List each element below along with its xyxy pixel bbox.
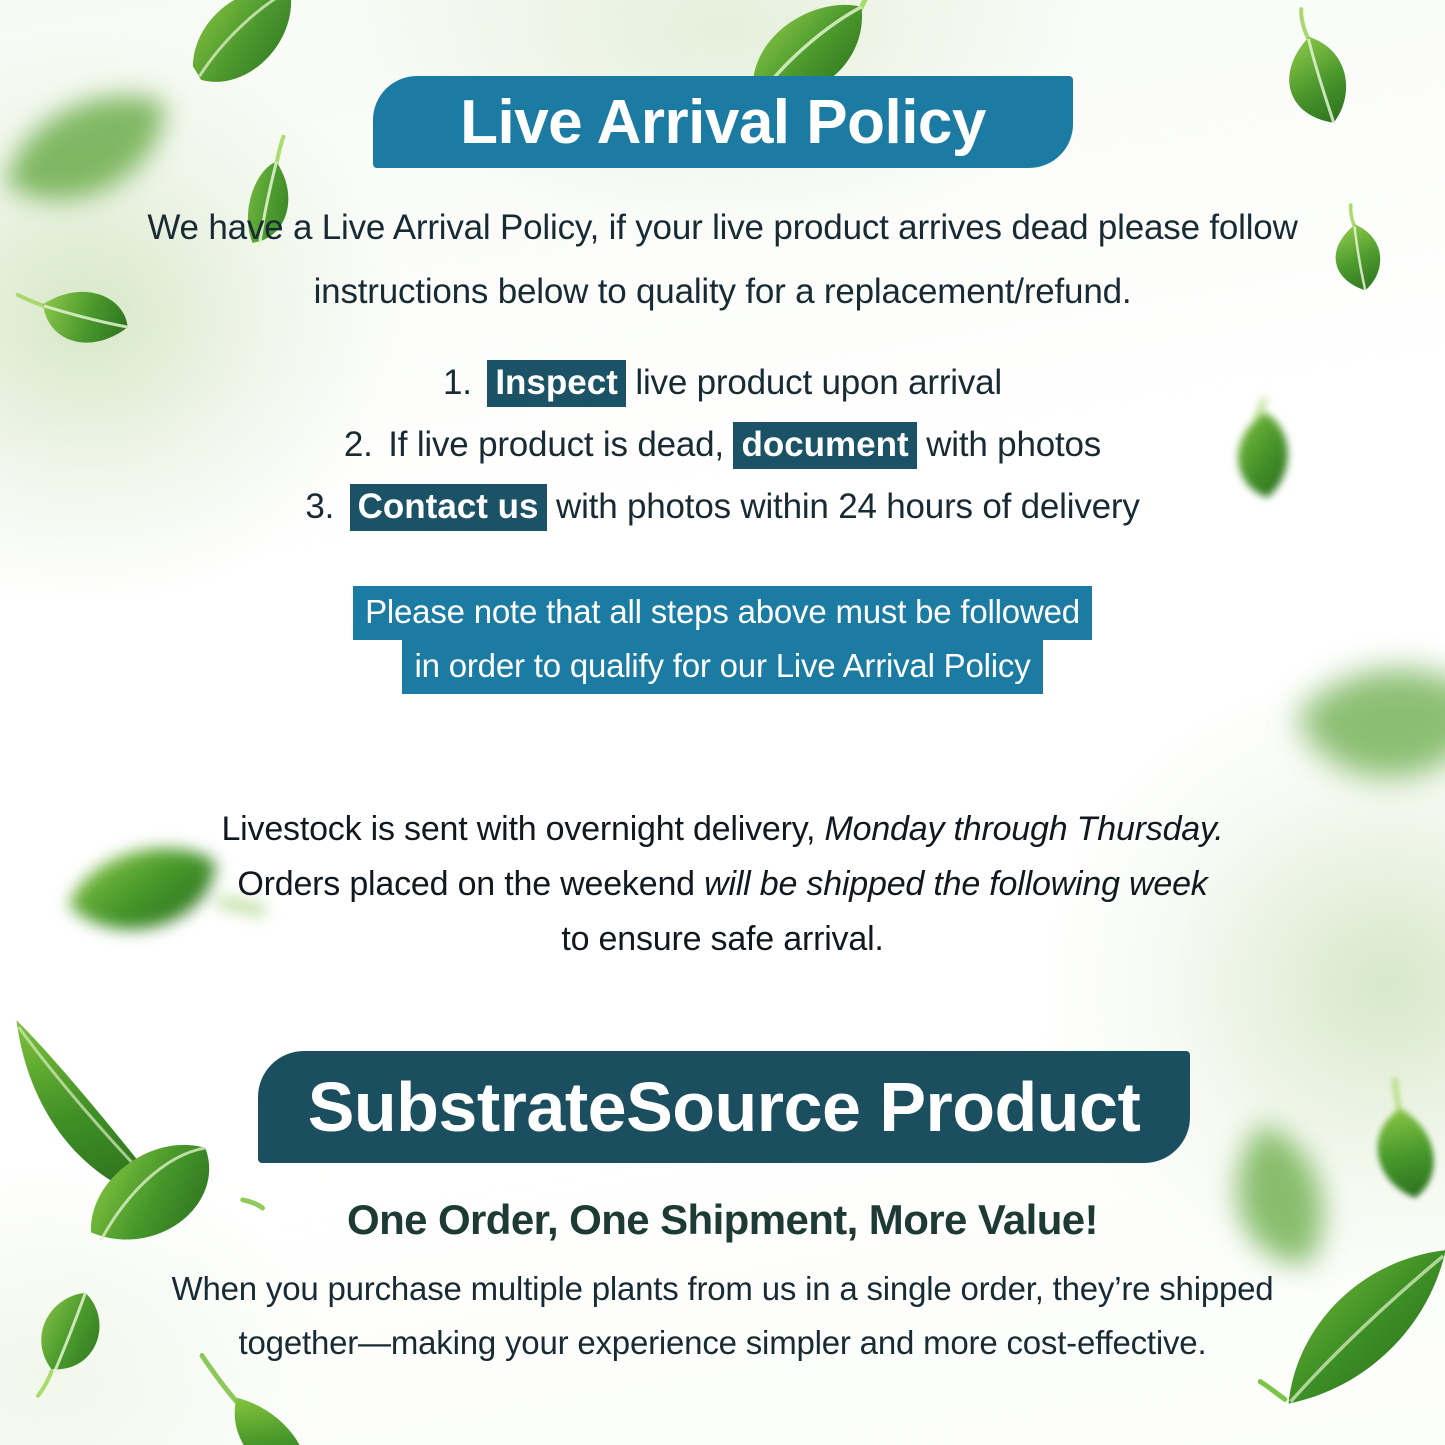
promo-graphic: Live Arrival Policy We have a Live Arriv…	[0, 0, 1445, 1445]
step-item-3: 3. Contact us with photos within 24 hour…	[0, 476, 1445, 538]
content-area: Live Arrival Policy We have a Live Arriv…	[0, 0, 1445, 1445]
step-highlight-contact-us[interactable]: Contact us	[350, 484, 547, 531]
step-number: 2.	[344, 425, 373, 464]
substratesource-product-banner: SubstrateSource Product	[258, 1051, 1190, 1163]
outro-paragraph: When you purchase multiple plants from u…	[0, 1262, 1445, 1370]
shipping-line-1-italic: Monday through Thursday.	[825, 810, 1224, 848]
step-text: with photos within 24 hours of delivery	[556, 487, 1140, 526]
shipping-schedule-paragraph: Livestock is sent with overnight deliver…	[0, 802, 1445, 967]
step-item-2: 2. If live product is dead, document wit…	[0, 414, 1445, 476]
steps-list: 1. Inspect live product upon arrival 2. …	[0, 352, 1445, 538]
step-text-pre: If live product is dead,	[388, 425, 724, 464]
policy-note-block: Please note that all steps above must be…	[0, 586, 1445, 694]
intro-line-1: We have a Live Arrival Policy, if your l…	[0, 196, 1445, 260]
shipping-line-1-normal: Livestock is sent with overnight deliver…	[221, 810, 824, 848]
shipping-line-2: Orders placed on the weekend will be shi…	[0, 857, 1445, 912]
shipping-line-1: Livestock is sent with overnight deliver…	[0, 802, 1445, 857]
step-item-1: 1. Inspect live product upon arrival	[0, 352, 1445, 414]
intro-line-2: instructions below to quality for a repl…	[0, 260, 1445, 324]
intro-paragraph: We have a Live Arrival Policy, if your l…	[0, 196, 1445, 324]
step-number: 1.	[443, 363, 472, 402]
step-highlight-inspect: Inspect	[487, 360, 626, 407]
value-proposition-subheading: One Order, One Shipment, More Value!	[0, 1196, 1445, 1244]
step-text: with photos	[926, 425, 1101, 464]
outro-line-2: together—making your experience simpler …	[0, 1316, 1445, 1370]
policy-note-line-1: Please note that all steps above must be…	[353, 586, 1092, 640]
shipping-line-2-normal: Orders placed on the weekend	[237, 865, 704, 903]
step-highlight-document: document	[733, 422, 916, 469]
outro-line-1: When you purchase multiple plants from u…	[0, 1262, 1445, 1316]
step-text: live product upon arrival	[635, 363, 1002, 402]
substratesource-product-title: SubstrateSource Product	[308, 1067, 1141, 1147]
live-arrival-policy-title: Live Arrival Policy	[460, 87, 986, 158]
shipping-line-3: to ensure safe arrival.	[0, 912, 1445, 967]
policy-note-line-2: in order to qualify for our Live Arrival…	[402, 640, 1042, 694]
shipping-line-2-italic: will be shipped the following week	[704, 865, 1208, 903]
step-number: 3.	[305, 487, 334, 526]
live-arrival-policy-banner: Live Arrival Policy	[373, 76, 1073, 168]
